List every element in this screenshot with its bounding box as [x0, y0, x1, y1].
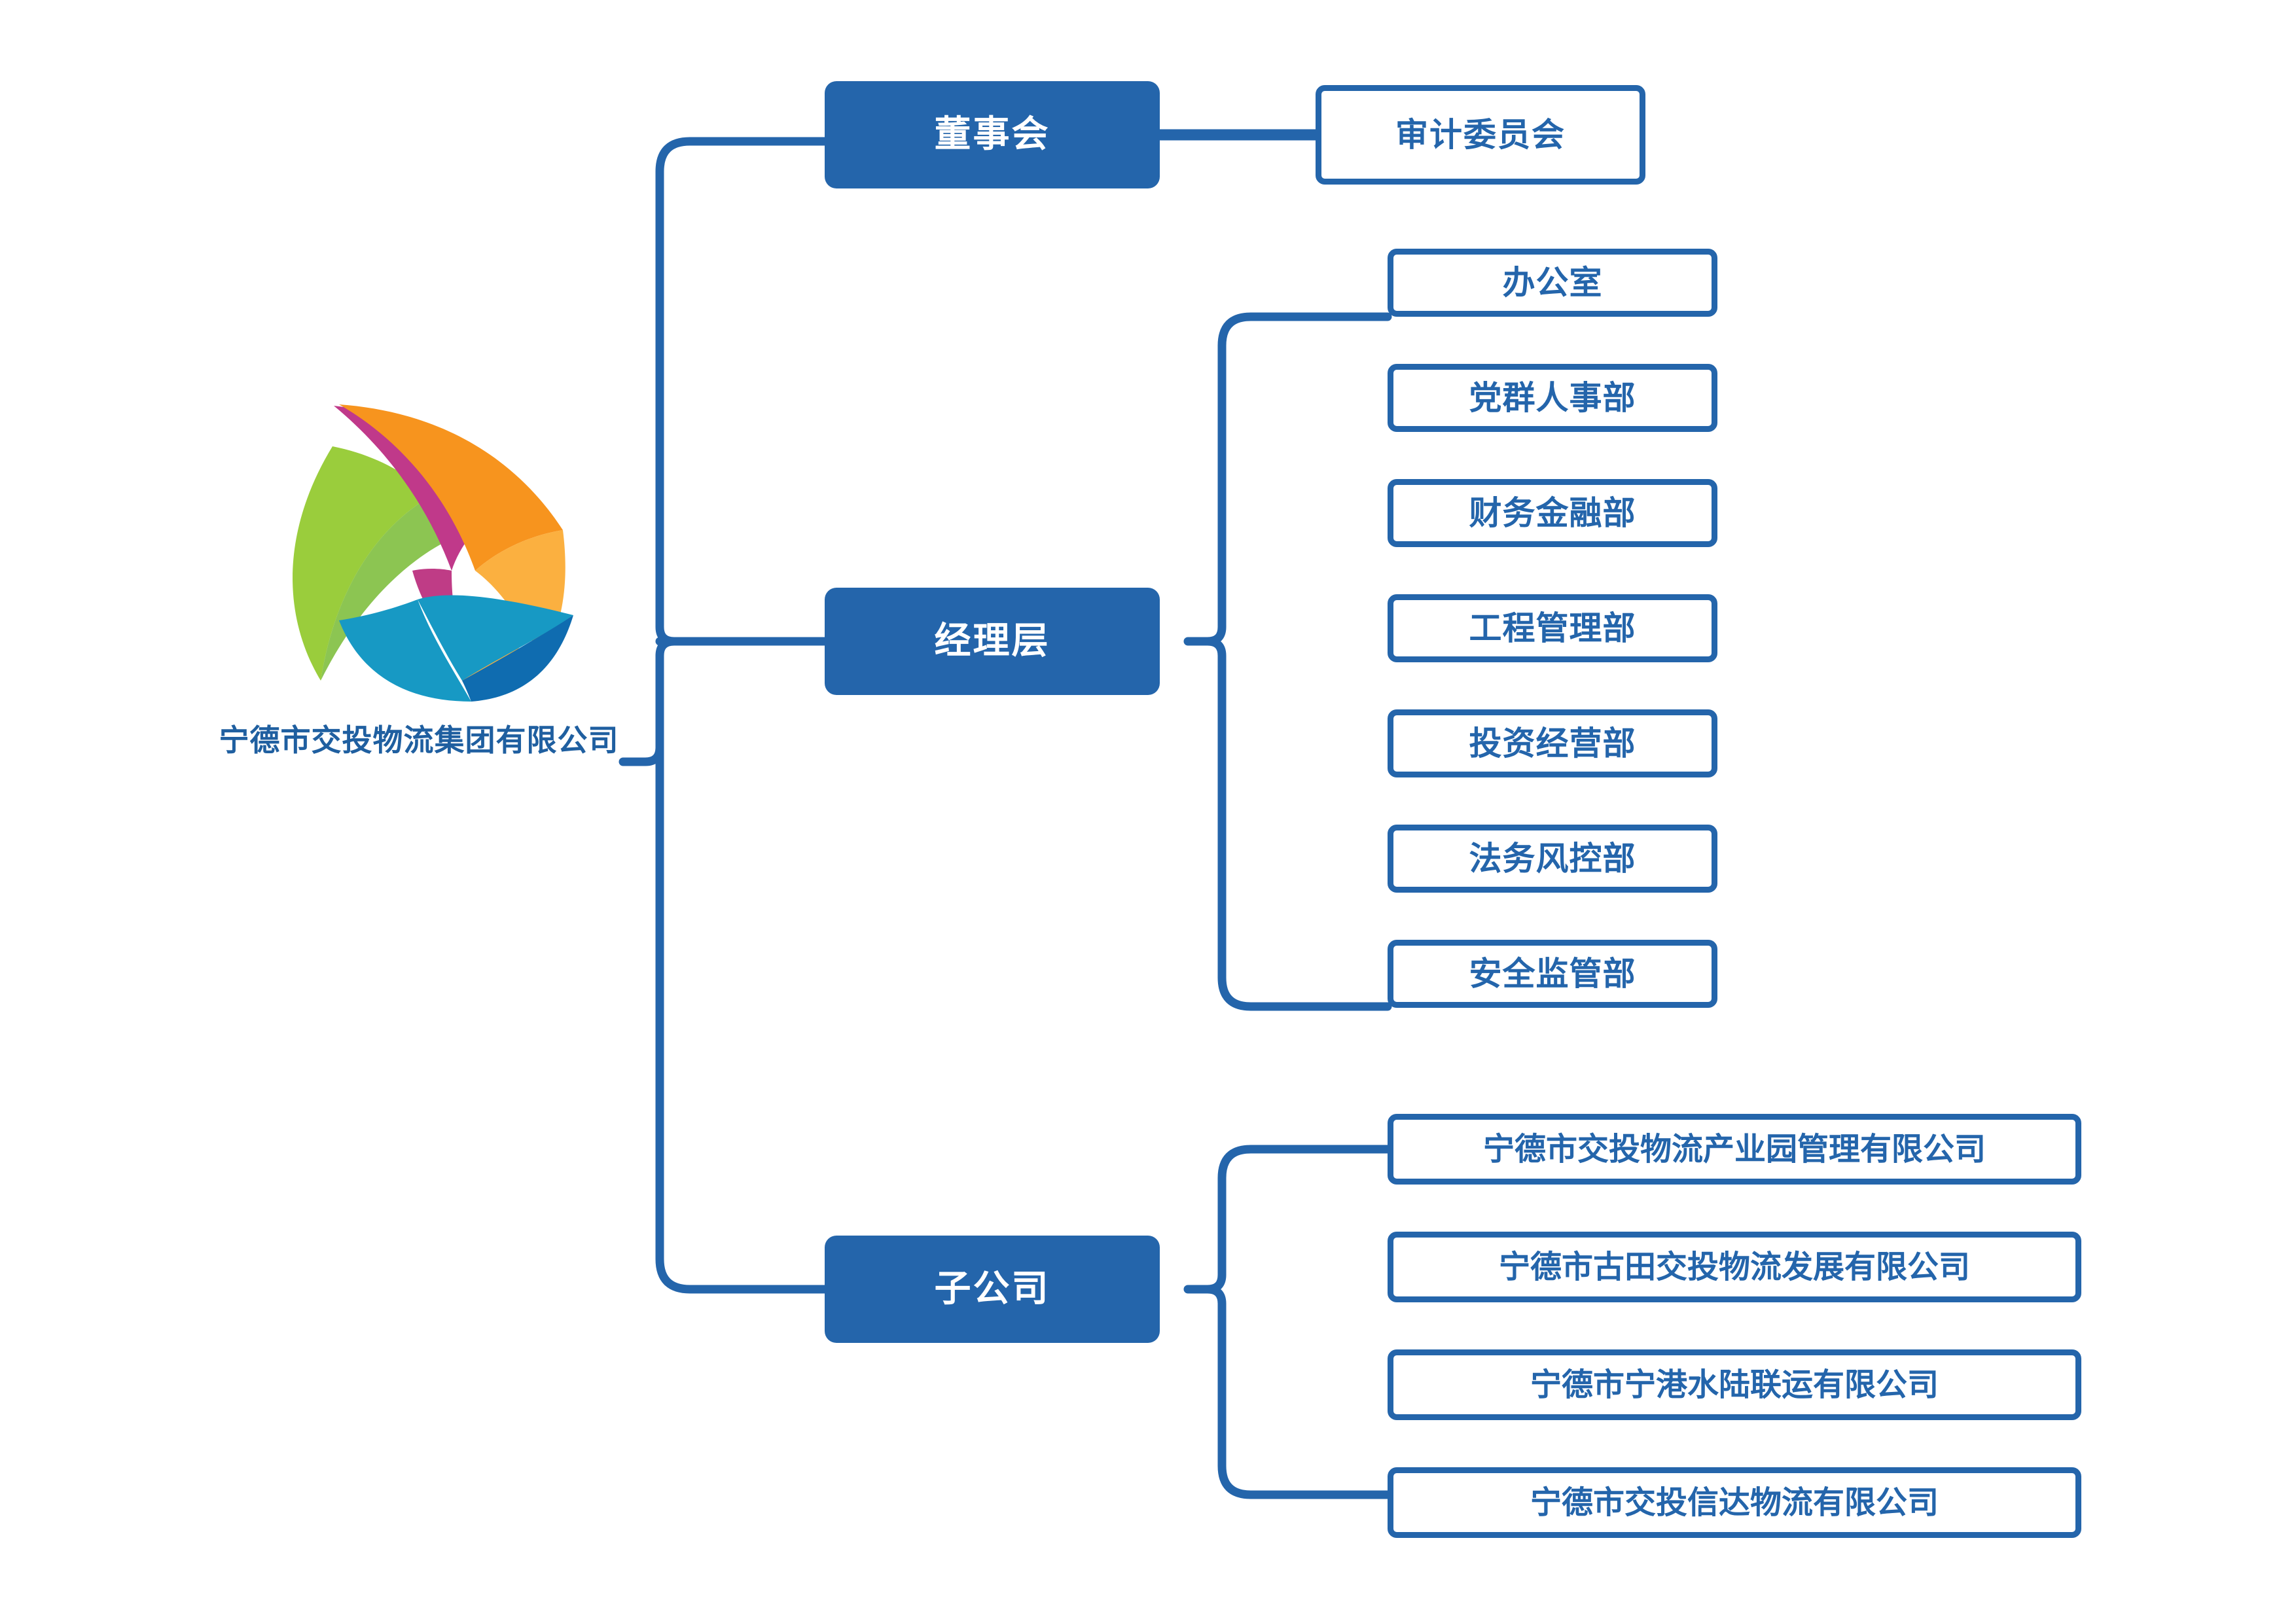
node-office-label: 办公室 [1503, 265, 1603, 301]
company-pinwheel-logo [255, 399, 583, 707]
node-subsidiaries-label: 子公司 [935, 1269, 1050, 1310]
node-management-layer[interactable]: 经理层 [825, 588, 1160, 695]
subsidiary-brace [1188, 1149, 1388, 1289]
node-party-hr-dept-label: 党群人事部 [1469, 380, 1636, 416]
node-subsidiary-logistics-park[interactable]: 宁德市交投物流产业园管理有限公司 [1388, 1114, 2081, 1185]
manager-brace [1188, 317, 1388, 641]
node-board-of-directors[interactable]: 董事会 [825, 81, 1160, 188]
root-node-label: 宁德市交投物流集团有限公司 [216, 717, 622, 760]
node-legal-risk-dept-label: 法务风控部 [1469, 841, 1636, 877]
node-investment-dept-label: 投资经营部 [1469, 726, 1636, 762]
node-legal-risk-dept[interactable]: 法务风控部 [1388, 825, 1717, 893]
node-safety-supervision-dept-label: 安全监管部 [1469, 956, 1636, 992]
node-management-layer-label: 经理层 [935, 621, 1050, 662]
node-investment-dept[interactable]: 投资经营部 [1388, 709, 1717, 777]
root-node: 宁德市交投物流集团有限公司 [216, 393, 622, 798]
node-subsidiary-ninggang-intermodal-label: 宁德市宁港水陆联运有限公司 [1530, 1368, 1939, 1402]
root-brace-lower [660, 656, 825, 1289]
node-subsidiary-xinda-logistics-label: 宁德市交投信达物流有限公司 [1530, 1486, 1939, 1520]
node-audit-committee[interactable]: 审计委员会 [1316, 85, 1645, 185]
node-subsidiaries[interactable]: 子公司 [825, 1236, 1160, 1343]
node-engineering-dept[interactable]: 工程管理部 [1388, 594, 1717, 662]
manager-brace-lower [1208, 641, 1388, 1007]
subsidiary-brace-lower [1208, 1289, 1388, 1495]
node-board-of-directors-label: 董事会 [935, 115, 1050, 155]
root-brace [623, 141, 825, 762]
node-subsidiary-gutian-logistics-label: 宁德市古田交投物流发展有限公司 [1499, 1250, 1970, 1285]
node-subsidiary-xinda-logistics[interactable]: 宁德市交投信达物流有限公司 [1388, 1467, 2081, 1538]
node-subsidiary-logistics-park-label: 宁德市交投物流产业园管理有限公司 [1483, 1132, 1986, 1167]
node-engineering-dept-label: 工程管理部 [1469, 611, 1636, 647]
node-audit-committee-label: 审计委员会 [1395, 117, 1566, 153]
node-subsidiary-gutian-logistics[interactable]: 宁德市古田交投物流发展有限公司 [1388, 1232, 2081, 1302]
node-finance-dept[interactable]: 财务金融部 [1388, 479, 1717, 547]
node-finance-dept-label: 财务金融部 [1469, 495, 1636, 531]
node-subsidiary-ninggang-intermodal[interactable]: 宁德市宁港水陆联运有限公司 [1388, 1349, 2081, 1420]
node-office[interactable]: 办公室 [1388, 249, 1717, 317]
org-chart: 宁德市交投物流集团有限公司 董事会 审计委员会 经理层 办公室 党群人事部 财务… [0, 0, 2296, 1623]
node-safety-supervision-dept[interactable]: 安全监管部 [1388, 940, 1717, 1008]
node-party-hr-dept[interactable]: 党群人事部 [1388, 364, 1717, 432]
